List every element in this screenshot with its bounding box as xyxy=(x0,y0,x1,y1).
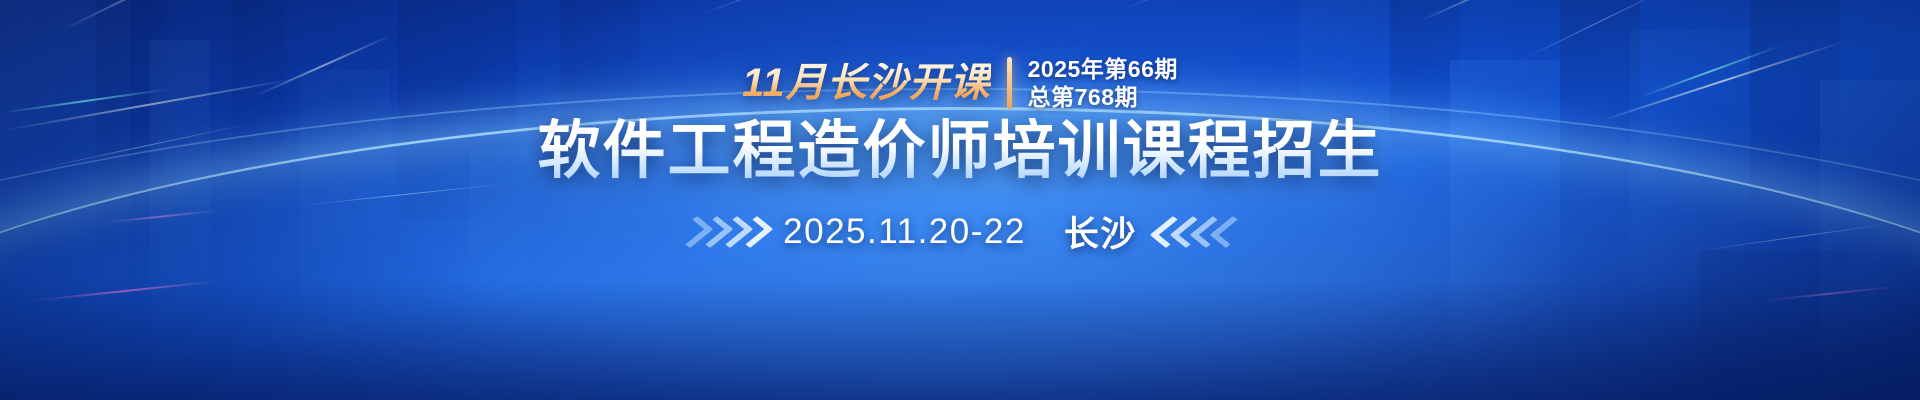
page-title: 软件工程造价师培训课程招生 xyxy=(538,118,1383,184)
event-banner: 11月长沙开课 2025年第66期 总第768期 软件工程造价师培训课程招生 2… xyxy=(0,0,1920,400)
chevron-right-group-icon xyxy=(683,217,761,247)
kicker-title: 11月长沙开课 xyxy=(742,63,991,103)
banner-content: 11月长沙开课 2025年第66期 总第768期 软件工程造价师培训课程招生 2… xyxy=(0,0,1920,400)
issue-total-label: 总第768期 xyxy=(1028,84,1178,111)
kicker-row: 11月长沙开课 2025年第66期 总第768期 xyxy=(742,56,1178,110)
chevron-left-icon xyxy=(1219,217,1237,247)
event-date: 2025.11.20-22 xyxy=(783,212,1026,252)
event-city: 长沙 xyxy=(1064,206,1137,257)
issue-info: 2025年第66期 总第768期 xyxy=(1028,56,1178,110)
chevron-left-group-icon xyxy=(1159,217,1237,247)
kicker-divider-icon xyxy=(1007,57,1012,109)
chevron-right-icon xyxy=(743,217,761,247)
issue-year-label: 2025年第66期 xyxy=(1028,56,1178,83)
dateline-row: 2025.11.20-22 长沙 xyxy=(683,206,1237,257)
